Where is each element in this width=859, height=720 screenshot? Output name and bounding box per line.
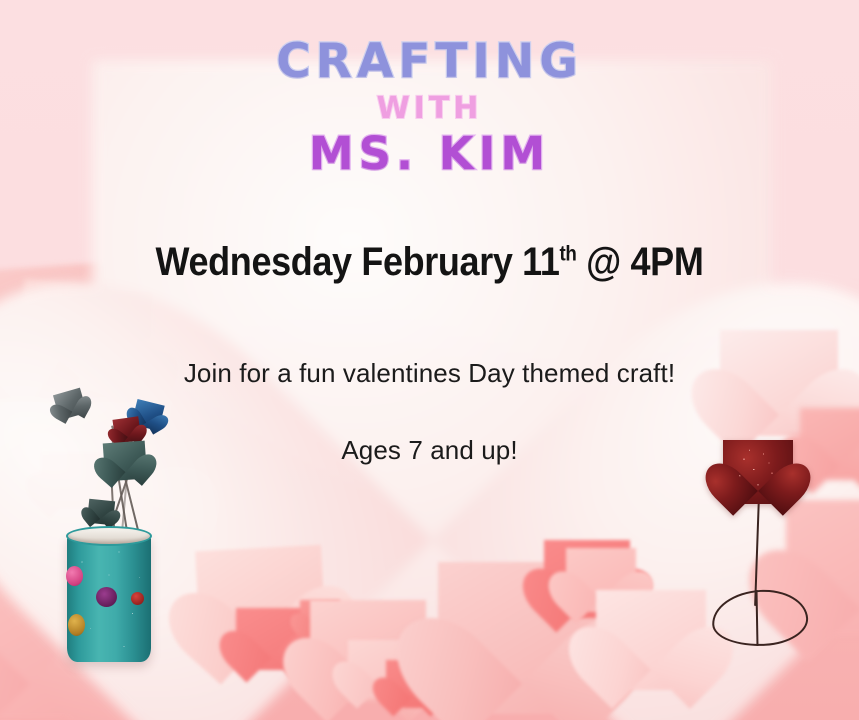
craft-heart-dark bbox=[87, 499, 115, 526]
age-requirement: Ages 7 and up! bbox=[0, 435, 859, 466]
craft-can-filling bbox=[66, 526, 152, 546]
craft-heart-silver bbox=[53, 388, 87, 421]
craft-button-red bbox=[131, 592, 144, 605]
red-glitter-heart-on-wire-stand bbox=[700, 440, 830, 655]
craft-button-purple bbox=[96, 587, 117, 607]
craft-button-pink bbox=[66, 566, 83, 586]
wire-base-loop bbox=[711, 588, 810, 649]
craft-button-yellow bbox=[68, 614, 85, 636]
ordinal-suffix: th bbox=[560, 243, 577, 266]
event-date-time: Wednesday February 11th @ 4PM bbox=[43, 240, 816, 285]
decorated-teal-tin-can-with-wire-hearts bbox=[30, 382, 190, 682]
valentines-craft-flyer: CRAFTING WITH MS. KIM Wednesday February… bbox=[0, 0, 859, 720]
title-with: WITH bbox=[0, 94, 859, 124]
event-time-text: @ 4PM bbox=[576, 240, 703, 284]
event-date-text: Wednesday February 11 bbox=[156, 240, 560, 284]
title-block: CRAFTING WITH MS. KIM bbox=[0, 38, 859, 176]
background-heart bbox=[386, 660, 438, 708]
title-ms-kim: MS. KIM bbox=[0, 131, 859, 176]
title-crafting: CRAFTING bbox=[0, 38, 859, 85]
event-description: Join for a fun valentines Day themed cra… bbox=[0, 358, 859, 389]
